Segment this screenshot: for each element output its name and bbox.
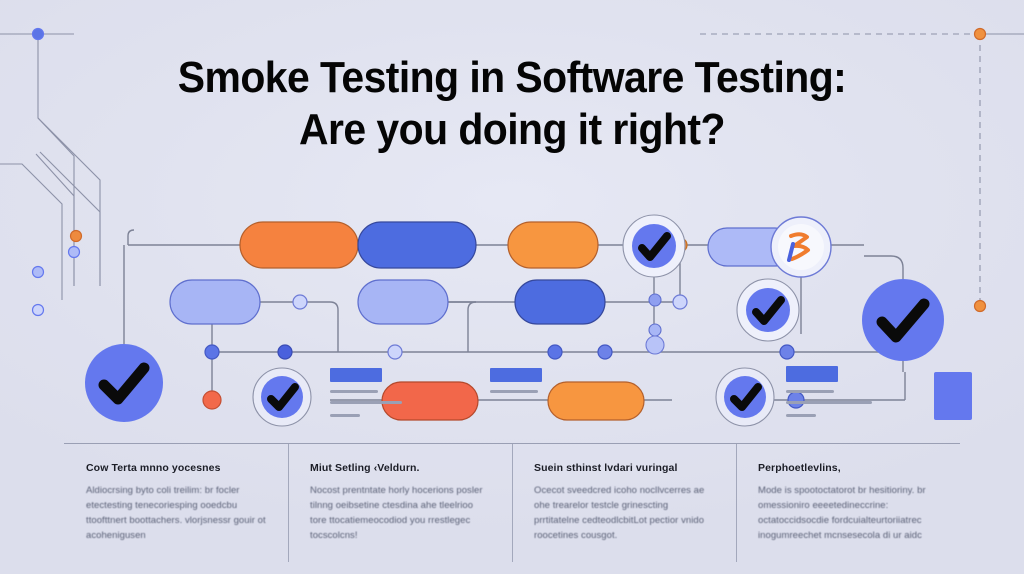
- flow-pill-blue-1: [358, 222, 476, 268]
- checkmark-icon-ring-mid: [737, 279, 799, 341]
- flow-pill-orange-2: [508, 222, 598, 268]
- footer-heading: Perphoetlevlins,: [758, 462, 938, 474]
- flow-pill-blue-2: [515, 280, 605, 324]
- footer-heading: Miut Setling ‹Veldurn.: [310, 462, 490, 474]
- checkmark-icon-ring-lower-right: [716, 368, 774, 426]
- infographic-canvas: Smoke Testing in Software Testing: Are y…: [0, 0, 1024, 574]
- flow-pill-orange-1: [240, 222, 358, 268]
- checkmark-icon-large-right: [862, 279, 944, 361]
- flow-pill-lightblue-1: [170, 280, 260, 324]
- footer-body: Mode is spootoctatorot br hesitioriny. b…: [758, 483, 938, 543]
- flow-pill-lightblue-2: [358, 280, 448, 324]
- checkmark-icon-ring-top: [623, 215, 685, 277]
- flow-block-square: [934, 372, 972, 420]
- footer-body: Nocost prentntate horly hocerions posler…: [310, 483, 490, 543]
- checkmark-icon-large-left: [85, 344, 163, 422]
- title-line-1: Smoke Testing in Software Testing:: [36, 52, 988, 104]
- checkmark-icon-ring-lower-left: [253, 368, 311, 426]
- page-title: Smoke Testing in Software Testing: Are y…: [0, 52, 1024, 156]
- footer-column-3: Suein sthinst lvdari vuringal Ocecot sve…: [512, 444, 736, 574]
- footer-column-1: Cow Terta mnno yocesnes Aldiocrsing byto…: [64, 444, 288, 574]
- text-placeholder-block: [786, 366, 872, 417]
- footer-column-4: Perphoetlevlins, Mode is spootoctatorot …: [736, 444, 960, 574]
- text-placeholder-block: [490, 368, 542, 393]
- flow-pill-orange-4: [548, 382, 644, 420]
- footer-body: Aldiocrsing byto coli treilim: br focler…: [86, 483, 266, 543]
- title-line-2: Are you doing it right?: [36, 104, 988, 156]
- footer-columns: Cow Terta mnno yocesnes Aldiocrsing byto…: [64, 444, 960, 574]
- footer-column-2: Miut Setling ‹Veldurn. Nocost prentntate…: [288, 444, 512, 574]
- footer-heading: Cow Terta mnno yocesnes: [86, 462, 266, 474]
- footer-heading: Suein sthinst lvdari vuringal: [534, 462, 714, 474]
- zigzag-glyph-icon: [771, 217, 831, 277]
- footer-body: Ocecot sveedcred icoho nocllvcerres ae o…: [534, 483, 714, 543]
